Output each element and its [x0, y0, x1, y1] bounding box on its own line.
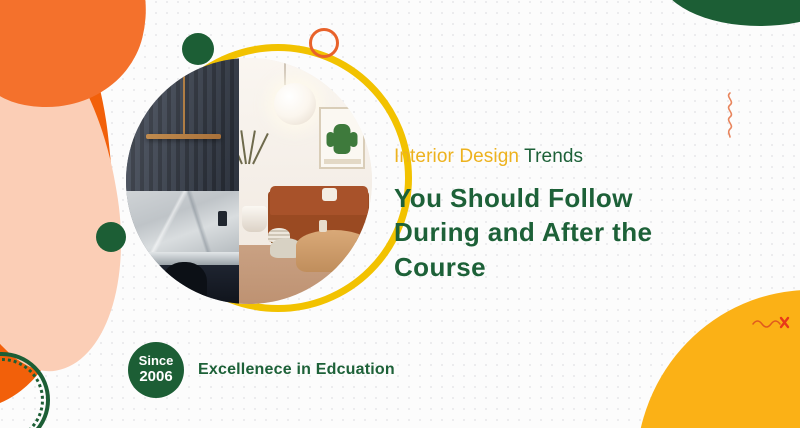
globe-pendant-lamp — [274, 83, 316, 125]
footer-block: Since 2006 Excellenece in Edcuation — [128, 342, 395, 398]
table-vase — [319, 220, 327, 232]
round-coffee-table — [296, 230, 370, 272]
copy-block: Interior Design Trends You Should Follow… — [394, 146, 774, 285]
plant-leaf — [252, 133, 269, 164]
headline-line-2: During and After the — [394, 215, 774, 250]
hero-photo-right — [239, 58, 372, 304]
pendant-cord — [284, 58, 286, 85]
page-title: You Should Follow During and After the C… — [394, 181, 774, 285]
counter-object — [218, 211, 227, 226]
hero-photo-left — [126, 58, 239, 304]
badge-year-label: 2006 — [139, 369, 172, 386]
orange-ring-icon — [309, 28, 339, 58]
sofa-pillow — [322, 188, 337, 201]
eyebrow-highlight: Interior Design — [394, 146, 519, 167]
tagline-text: Excellenece in Edcuation — [198, 361, 395, 379]
pendant-cord — [183, 70, 185, 134]
pendant-light-bar — [146, 134, 221, 139]
stool — [162, 262, 207, 304]
headline-line-3: Course — [394, 250, 774, 285]
eyebrow-line: Interior Design Trends — [394, 146, 774, 169]
sofa-cushions — [270, 186, 368, 216]
cactus-artwork-frame — [319, 107, 365, 169]
green-blob-top-right — [660, 0, 800, 26]
green-dot-icon — [182, 33, 214, 65]
orange-squiggle-x-icon — [752, 315, 790, 331]
artwork-caption-bar — [324, 159, 361, 164]
since-badge: Since 2006 — [128, 342, 184, 398]
cactus-illustration — [334, 124, 351, 154]
badge-since-label: Since — [139, 354, 174, 369]
headline-line-1: You Should Follow — [394, 181, 774, 216]
potted-plant-leaves — [239, 122, 288, 164]
eyebrow-rest: Trends — [519, 146, 583, 167]
plant-pot — [242, 206, 267, 232]
hero-media — [118, 22, 388, 322]
orange-squiggle-icon — [722, 92, 738, 138]
amber-blob-bottom-right — [636, 290, 800, 428]
green-dot-icon — [96, 222, 126, 252]
hero-photo-circle — [126, 58, 372, 304]
promo-banner: Interior Design Trends You Should Follow… — [0, 0, 800, 428]
